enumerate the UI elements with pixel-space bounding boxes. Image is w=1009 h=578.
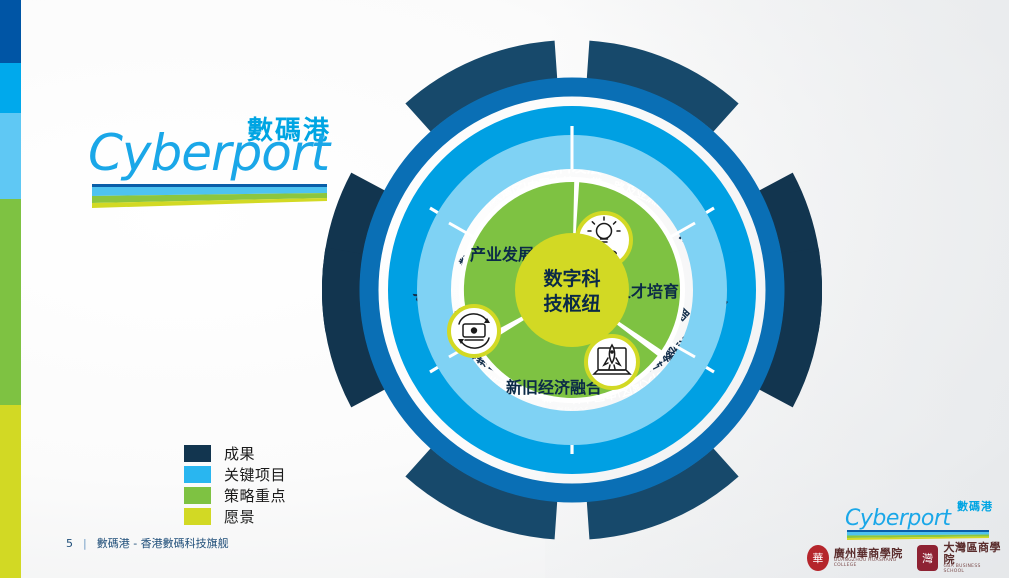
cyberport-small-swoosh-icon (847, 532, 989, 540)
legend-label-outcome: 成果 (224, 443, 255, 464)
legend-item-strategy-focus: 策略重点 (184, 485, 286, 505)
footer-title: 數碼港 - 香港數碼科技旗舰 (97, 535, 229, 551)
legend: 成果 关键项目 策略重点 愿景 (184, 443, 286, 527)
rail-segment-dark-blue (0, 0, 21, 63)
rocket-laptop-icon[interactable] (586, 336, 638, 388)
cyberport-logo-wordmark: Cyberport (88, 126, 329, 180)
legend-swatch-strategy-focus (184, 487, 211, 504)
college-logo-huashang: 華 廣州華商學院 GUANGZHOU HUASHANG COLLEGE (807, 545, 907, 571)
core-label-line1: 数字科 (543, 267, 600, 290)
slide-footer: 5 | 數碼港 - 香港數碼科技旗舰 (66, 535, 229, 551)
rail-segment-yellow (0, 405, 21, 578)
cyberport-small-wordmark: Cyberport (845, 506, 951, 531)
cyberport-logo-small: 數碼港 Cyberport (845, 498, 995, 534)
legend-item-key-project: 关键项目 (184, 464, 286, 484)
footer-separator: | (83, 537, 87, 550)
huashang-name-en: GUANGZHOU HUASHANG COLLEGE (834, 559, 907, 568)
cyberport-logo: 數碼港 Cyberport (88, 104, 333, 204)
left-color-rail (0, 0, 21, 578)
core-circle[interactable] (515, 233, 629, 347)
strategy-wheel-diagram: 创科发展 社会公益 经济贡献 市场显赫成就 人才培育 创造就业机会 香港|大湾区… (322, 18, 822, 563)
legend-item-vision: 愿景 (184, 506, 286, 526)
college-logos: 華 廣州華商學院 GUANGZHOU HUASHANG COLLEGE 灣 大灣… (807, 542, 1001, 575)
rail-segment-light-blue (0, 113, 21, 199)
partner-logos: 數碼港 Cyberport 華 廣州華商學院 GUANGZHOU HUASHAN… (801, 498, 1001, 572)
rail-segment-cyan (0, 63, 21, 113)
gear-recycle-icon[interactable] (449, 306, 499, 356)
cyberport-small-chinese: 數碼港 (957, 498, 993, 514)
legend-label-key-project: 关键项目 (224, 464, 286, 485)
cyberport-logo-swoosh-icon (92, 187, 327, 209)
legend-swatch-key-project (184, 466, 211, 483)
legend-swatch-outcome (184, 445, 211, 462)
footer-page-number: 5 (66, 537, 73, 550)
legend-label-strategy-focus: 策略重点 (224, 485, 286, 506)
rail-segment-green (0, 199, 21, 405)
huashang-seal-icon: 華 (807, 545, 829, 571)
core-label-line2: 技枢纽 (543, 292, 600, 315)
legend-item-outcome: 成果 (184, 443, 286, 463)
college-logo-gba: 灣 大灣區商學院 GBA BUSINESS SCHOOL (917, 542, 1001, 575)
legend-swatch-vision (184, 508, 211, 525)
focus-label-economy-fusion: 新旧经济融合 (506, 378, 603, 397)
legend-label-vision: 愿景 (224, 506, 255, 527)
gba-seal-icon: 灣 (917, 545, 939, 571)
slide-canvas: 數碼港 Cyberport 成果 关键项目 策略重点 愿景 5 | 數碼 (0, 0, 1009, 578)
gba-name-zh: 大灣區商學院 (943, 542, 1001, 565)
gba-name-en: GBA BUSINESS SCHOOL (943, 565, 1001, 574)
